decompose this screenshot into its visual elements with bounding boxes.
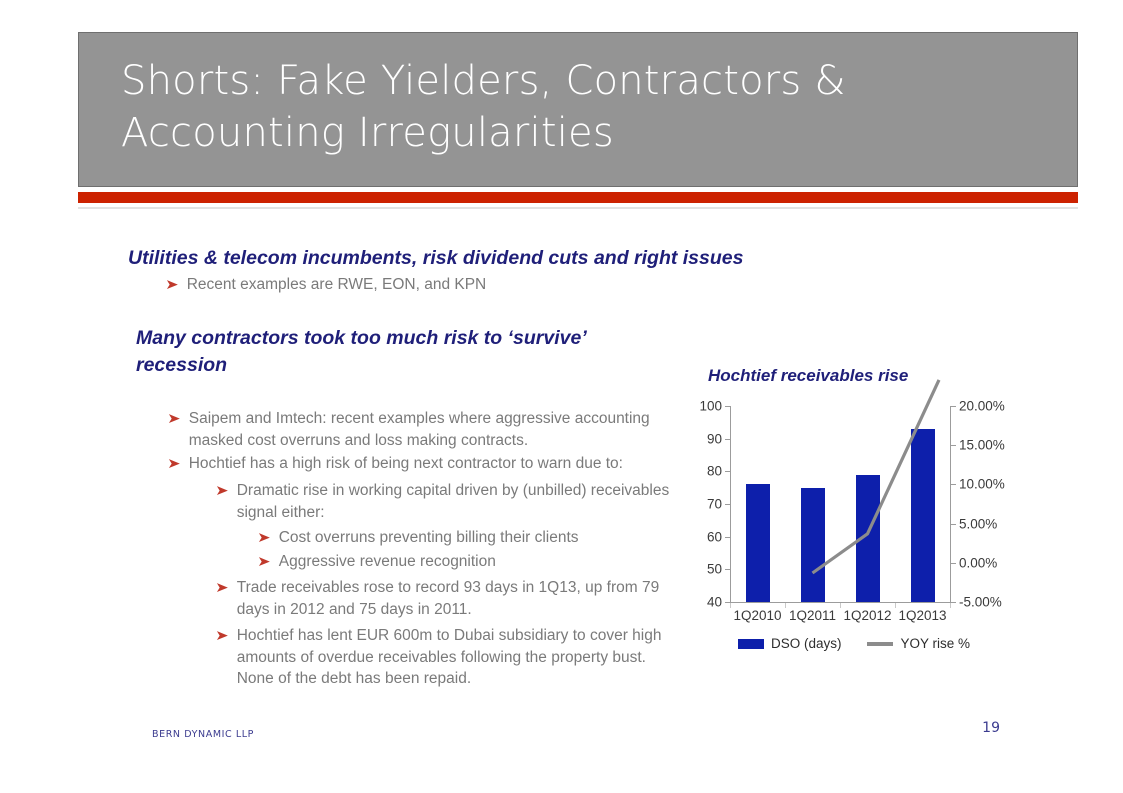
y-axis-right-tick-label: 5.00%	[959, 516, 1019, 531]
list-item-text: Saipem and Imtech: recent examples where…	[189, 408, 668, 451]
x-axis-tick	[785, 603, 786, 608]
x-axis-tick-label: 1Q2013	[894, 608, 952, 623]
y-axis-right-tick-label: 0.00%	[959, 555, 1019, 570]
legend-item-yoy: YOY rise %	[867, 636, 970, 651]
arrow-bullet-icon: ➤	[215, 625, 228, 647]
list-item: ➤ Trade receivables rose to record 93 da…	[216, 577, 686, 620]
list-item-text: Hochtief has a high risk of being next c…	[189, 453, 688, 475]
x-axis-tick	[840, 603, 841, 608]
y-axis-tick-label: 40	[694, 595, 722, 610]
x-axis-tick-label: 1Q2012	[839, 608, 897, 623]
section-heading-utilities: Utilities & telecom incumbents, risk div…	[128, 245, 828, 272]
list-item-text: Recent examples are RWE, EON, and KPN	[187, 274, 686, 296]
y-axis-right-tick-label: 20.00%	[959, 399, 1019, 414]
y-axis-right-tick	[951, 445, 956, 446]
list-item-text: Aggressive revenue recognition	[279, 551, 678, 573]
y-axis-right-tick	[951, 406, 956, 407]
legend-label: YOY rise %	[900, 636, 970, 651]
y-axis-right-tick	[951, 563, 956, 564]
y-axis-right-tick-label: 15.00%	[959, 438, 1019, 453]
y-axis-tick-label: 80	[694, 464, 722, 479]
y-axis-tick-label: 70	[694, 497, 722, 512]
arrow-bullet-icon: ➤	[257, 527, 270, 549]
y-axis-tick-label: 50	[694, 562, 722, 577]
arrow-bullet-icon: ➤	[215, 577, 228, 599]
receivables-chart: 405060708090100 -5.00%0.00%5.00%10.00%15…	[694, 400, 1014, 665]
list-item-text: Cost overruns preventing billing their c…	[279, 527, 678, 549]
line-series	[730, 406, 950, 602]
plot-area	[730, 406, 950, 602]
accent-rule-gray	[78, 207, 1078, 209]
y-axis-right-tick	[951, 484, 956, 485]
x-axis-tick	[730, 603, 731, 608]
list-item: ➤ Hochtief has lent EUR 600m to Dubai su…	[216, 625, 676, 690]
list-item: ➤ Recent examples are RWE, EON, and KPN	[166, 274, 686, 296]
legend-item-dso: DSO (days)	[738, 636, 842, 651]
arrow-bullet-icon: ➤	[167, 453, 180, 475]
arrow-bullet-icon: ➤	[167, 408, 180, 430]
line-path	[813, 380, 940, 573]
page-title: Shorts: Fake Yielders, Contractors & Acc…	[121, 55, 1047, 159]
list-item-text: Dramatic rise in working capital driven …	[237, 480, 676, 523]
list-item-text: Trade receivables rose to record 93 days…	[237, 577, 686, 620]
list-item: ➤ Hochtief has a high risk of being next…	[168, 453, 688, 475]
list-item: ➤ Dramatic rise in working capital drive…	[216, 480, 676, 523]
arrow-bullet-icon: ➤	[165, 274, 178, 296]
y-axis-right-tick	[951, 524, 956, 525]
x-axis-tick	[895, 603, 896, 608]
y-axis-tick-label: 90	[694, 431, 722, 446]
arrow-bullet-icon: ➤	[257, 551, 270, 573]
list-item: ➤ Saipem and Imtech: recent examples whe…	[168, 408, 668, 451]
page-number: 19	[982, 720, 1000, 736]
list-item-text: Hochtief has lent EUR 600m to Dubai subs…	[237, 625, 676, 690]
y-axis-right-tick	[951, 602, 956, 603]
y-axis-right-tick-label: -5.00%	[959, 595, 1019, 610]
list-item: ➤ Cost overruns preventing billing their…	[258, 527, 678, 549]
footer-company: BERN DYNAMIC LLP	[152, 729, 254, 740]
bar-swatch-icon	[738, 639, 764, 649]
title-banner: Shorts: Fake Yielders, Contractors & Acc…	[78, 32, 1078, 187]
x-axis-tick	[950, 603, 951, 608]
list-item: ➤ Aggressive revenue recognition	[258, 551, 678, 573]
x-axis-tick-label: 1Q2011	[784, 608, 842, 623]
chart-title: Hochtief receivables rise	[708, 366, 908, 386]
line-swatch-icon	[867, 642, 893, 646]
arrow-bullet-icon: ➤	[215, 480, 228, 502]
y-axis-tick-label: 100	[694, 399, 722, 414]
y-axis-right	[950, 406, 951, 602]
legend-label: DSO (days)	[771, 636, 842, 651]
y-axis-right-tick-label: 10.00%	[959, 477, 1019, 492]
y-axis-tick-label: 60	[694, 529, 722, 544]
chart-legend: DSO (days) YOY rise %	[694, 636, 1014, 651]
section-heading-contractors: Many contractors took too much risk to ‘…	[136, 325, 656, 379]
x-axis-tick-label: 1Q2010	[729, 608, 787, 623]
accent-rule-red	[78, 192, 1078, 203]
